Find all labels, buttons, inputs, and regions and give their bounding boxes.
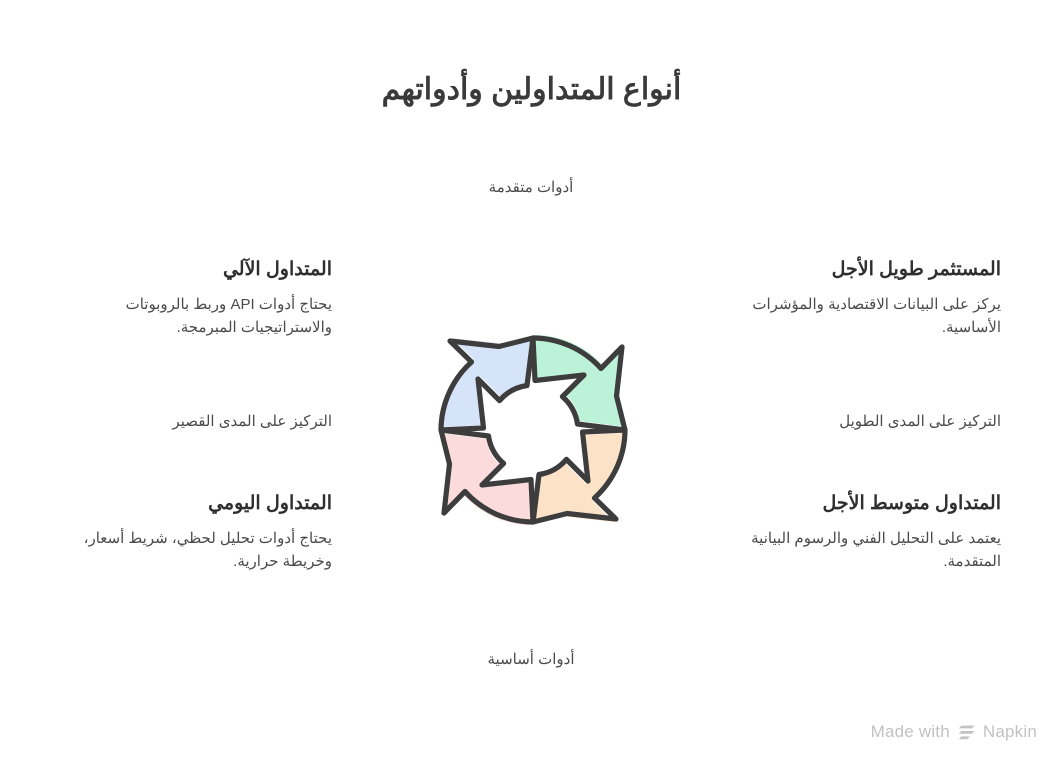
quadrant-label-long-term-investor: المستثمر طويل الأجل يركز على البيانات ال…	[731, 258, 1001, 339]
quadrant-description: يحتاج أدوات تحليل لحظي، شريط أسعار، وخري…	[62, 527, 332, 574]
cycle-segment-outlines	[441, 338, 625, 522]
page-title: أنواع المتداولين وأدواتهم	[0, 72, 1063, 107]
quadrant-label-algorithmic-trader: المتداول الآلي يحتاج أدوات API وربط بالر…	[62, 258, 332, 339]
watermark-text: Made with	[871, 722, 950, 742]
quadrant-description: يعتمد على التحليل الفني والرسوم البيانية…	[731, 527, 1001, 574]
quadrant-description: يركز على البيانات الاقتصادية والمؤشرات ا…	[731, 293, 1001, 340]
napkin-logo-icon	[957, 724, 976, 741]
quadrant-title: المتداول متوسط الأجل	[731, 492, 1001, 517]
quadrant-title: المستثمر طويل الأجل	[731, 258, 1001, 283]
watermark-brand: Napkin	[983, 722, 1037, 742]
axis-caption-left: التركيز على المدى القصير	[62, 412, 332, 430]
quadrant-label-day-trader: المتداول اليومي يحتاج أدوات تحليل لحظي، …	[62, 492, 332, 573]
quadrant-title: المتداول الآلي	[62, 258, 332, 283]
infographic-page: أنواع المتداولين وأدواتهم أدوات متقدمة أ…	[0, 0, 1063, 768]
axis-caption-top: أدوات متقدمة	[381, 178, 681, 196]
quadrant-title: المتداول اليومي	[62, 492, 332, 517]
quadrant-description: يحتاج أدوات API وربط بالروبوتات والاسترا…	[62, 293, 332, 340]
quadrant-label-medium-term-trader: المتداول متوسط الأجل يعتمد على التحليل ا…	[731, 492, 1001, 573]
cycle-diagram	[345, 235, 720, 625]
axis-caption-bottom: أدوات أساسية	[381, 650, 681, 668]
napkin-watermark: Made with Napkin	[871, 722, 1037, 742]
axis-caption-right: التركيز على المدى الطويل	[731, 412, 1001, 430]
